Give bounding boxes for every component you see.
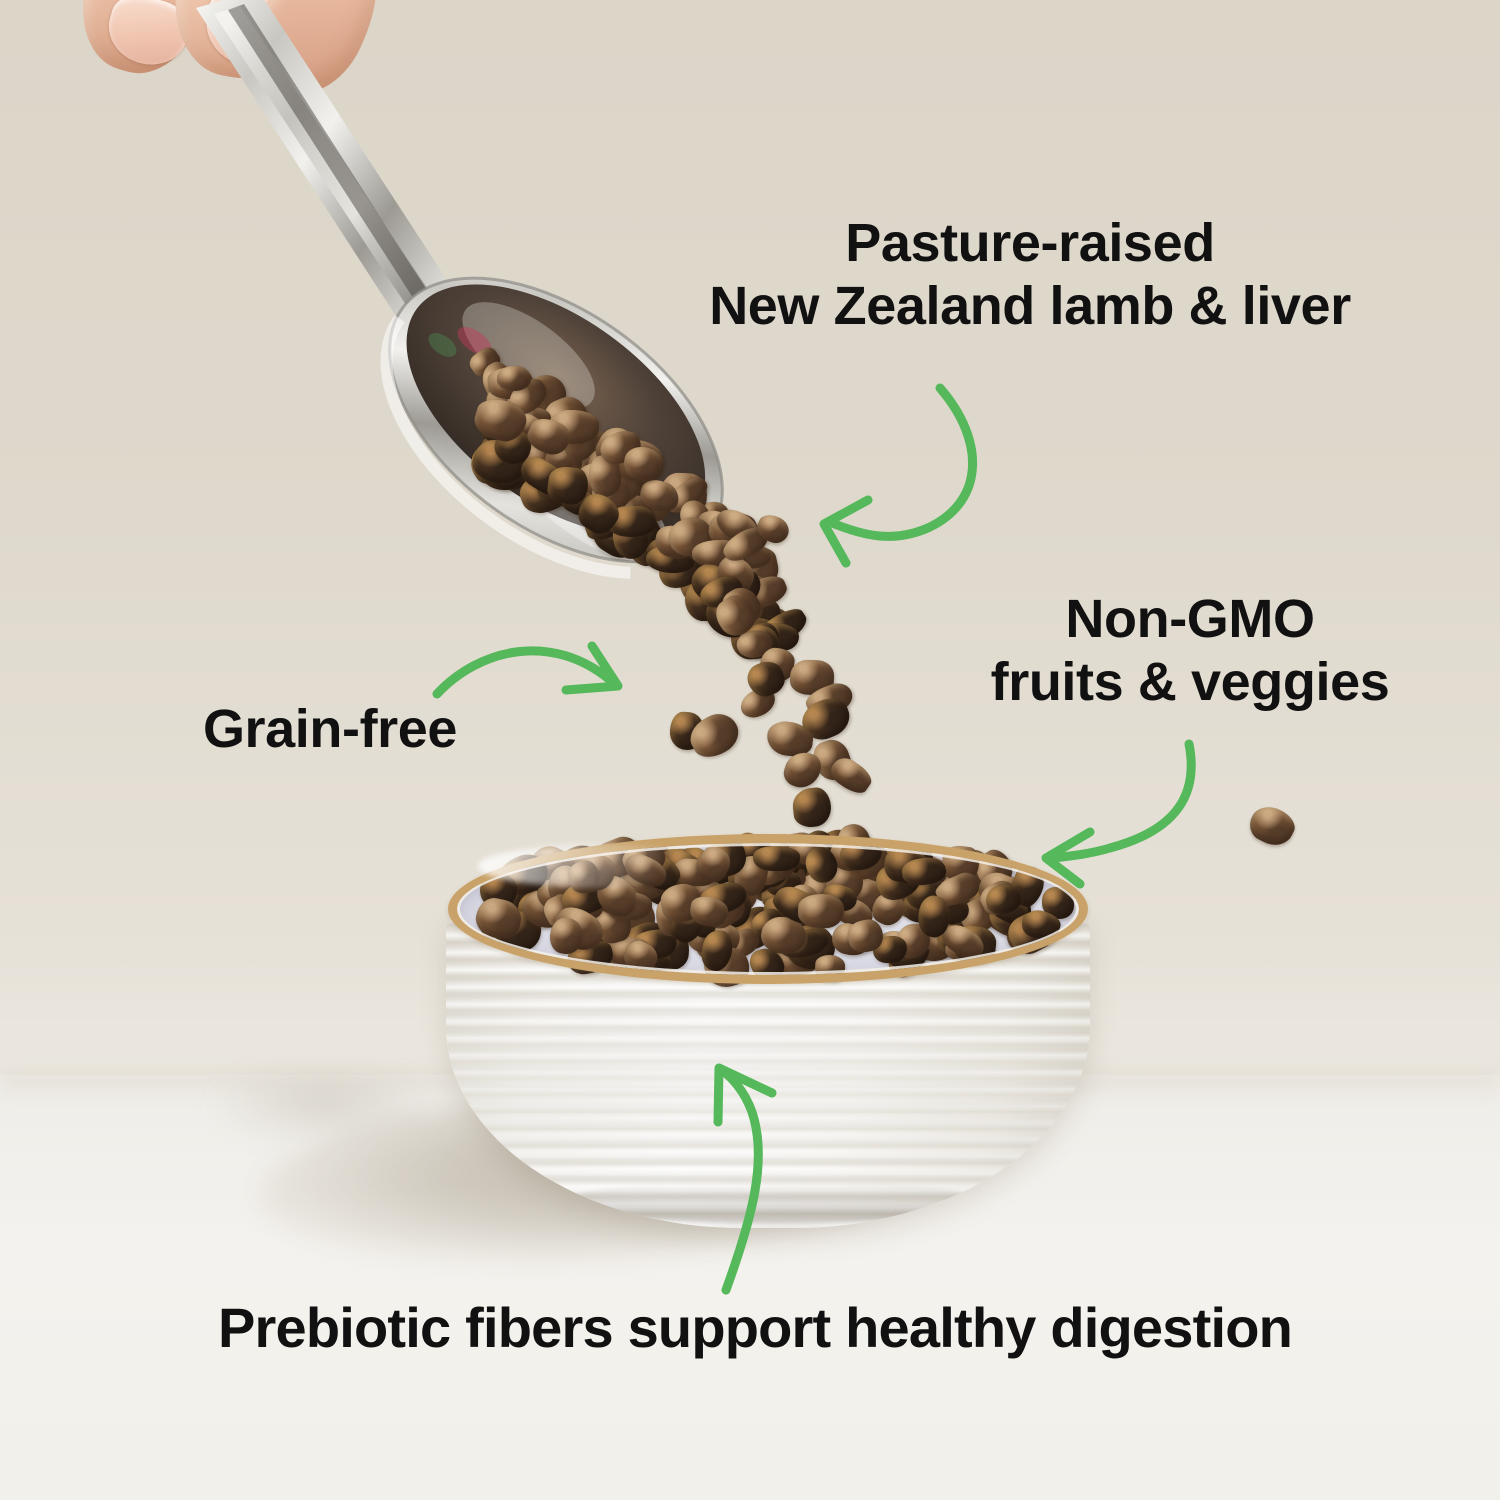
product-image-canvas: Pasture-raised New Zealand lamb & liver …: [0, 0, 1500, 1500]
kibble-piece: [753, 511, 793, 547]
kibble-piece: [791, 786, 833, 828]
rim-highlight: [478, 844, 738, 888]
callout-pasture-raised: Pasture-raised New Zealand lamb & liver: [630, 212, 1430, 337]
callout-non-gmo: Non-GMO fruits & veggies: [930, 588, 1450, 713]
bowl-base: [564, 1180, 984, 1224]
ceramic-bowl: [438, 838, 1098, 1238]
callout-prebiotic: Prebiotic fibers support healthy digesti…: [120, 1296, 1390, 1361]
callout-grain-free: Grain-free: [150, 698, 510, 761]
